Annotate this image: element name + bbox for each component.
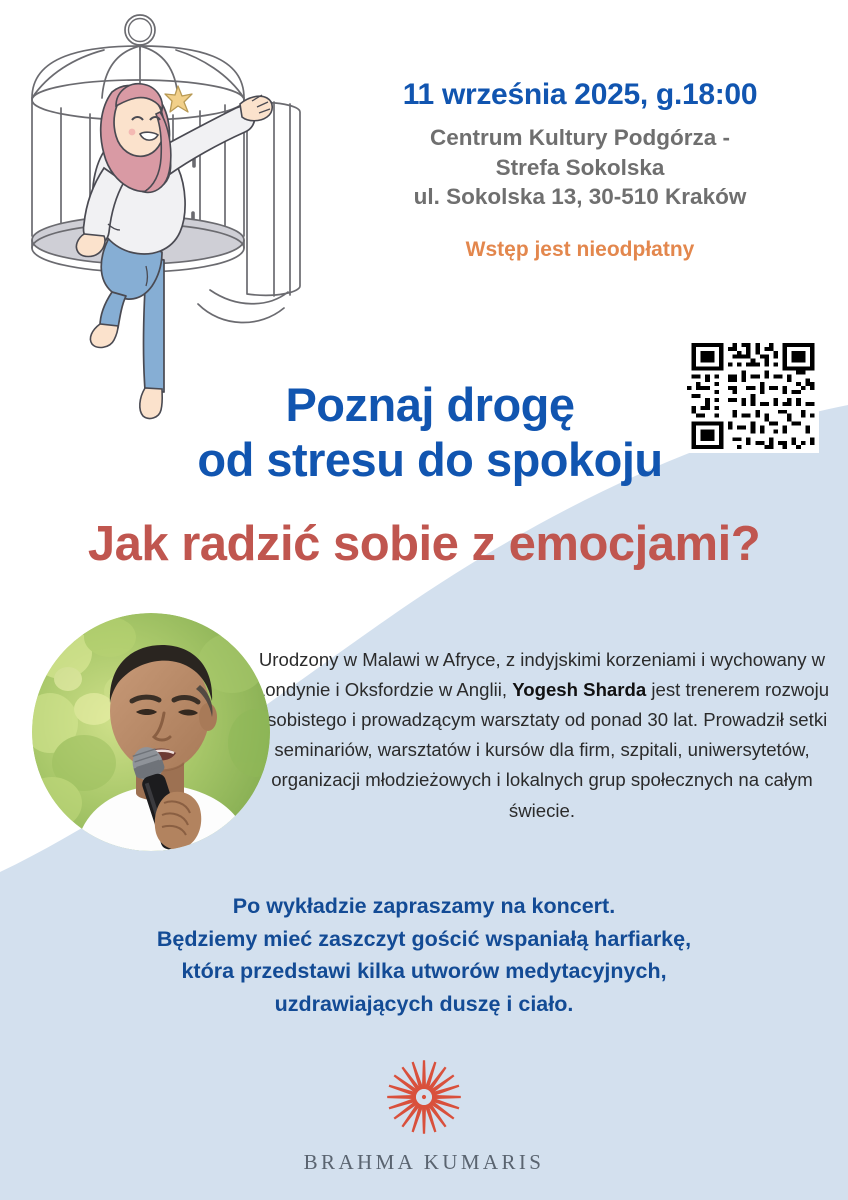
- headline-blue-line-1: Poznaj drogę: [150, 378, 710, 433]
- poster-root: 11 września 2025, g.18:00 Centrum Kultur…: [0, 0, 848, 1200]
- headline-blue-line-2: od stresu do spokoju: [150, 433, 710, 488]
- event-date-time: 11 września 2025, g.18:00: [330, 78, 830, 112]
- venue-line-3: ul. Sokolska 13, 30-510 Kraków: [330, 182, 830, 212]
- concert-line-2: Będziemy mieć zaszczyt gościć wspaniałą …: [64, 923, 784, 956]
- speaker-portrait: [32, 613, 270, 851]
- sunburst-icon: [384, 1057, 464, 1137]
- speaker-name: Yogesh Sharda: [512, 679, 646, 700]
- event-header: 11 września 2025, g.18:00 Centrum Kultur…: [330, 78, 830, 262]
- speaker-photo-image: [32, 613, 270, 851]
- concert-line-3: która przedstawi kilka utworów medytacyj…: [64, 955, 784, 988]
- venue-line-2: Strefa Sokolska: [330, 153, 830, 183]
- woman-escaping-birdcage-icon: [12, 8, 312, 428]
- concert-line-1: Po wykładzie zapraszamy na koncert.: [64, 890, 784, 923]
- bio-text-after-name: jest trenerem rozwoju osobistego i prowa…: [257, 679, 829, 820]
- speaker-bio: Urodzony w Malawi w Afryce, z indyjskimi…: [252, 645, 832, 826]
- venue-line-1: Centrum Kultury Podgórza -: [330, 123, 830, 153]
- qr-code[interactable]: [687, 339, 819, 453]
- concert-line-4: uzdrawiających duszę i ciało.: [64, 988, 784, 1021]
- organization-name: BRAHMA KUMARIS: [0, 1150, 848, 1175]
- event-venue: Centrum Kultury Podgórza - Strefa Sokols…: [330, 123, 830, 213]
- qr-code-icon: [687, 339, 819, 453]
- free-entry-note: Wstęp jest nieodpłatny: [330, 238, 830, 262]
- main-headline-blue: Poznaj drogę od stresu do spokoju: [150, 378, 710, 487]
- concert-note: Po wykładzie zapraszamy na koncert. Będz…: [64, 890, 784, 1021]
- main-headline-red: Jak radzić sobie z emocjami?: [10, 518, 838, 572]
